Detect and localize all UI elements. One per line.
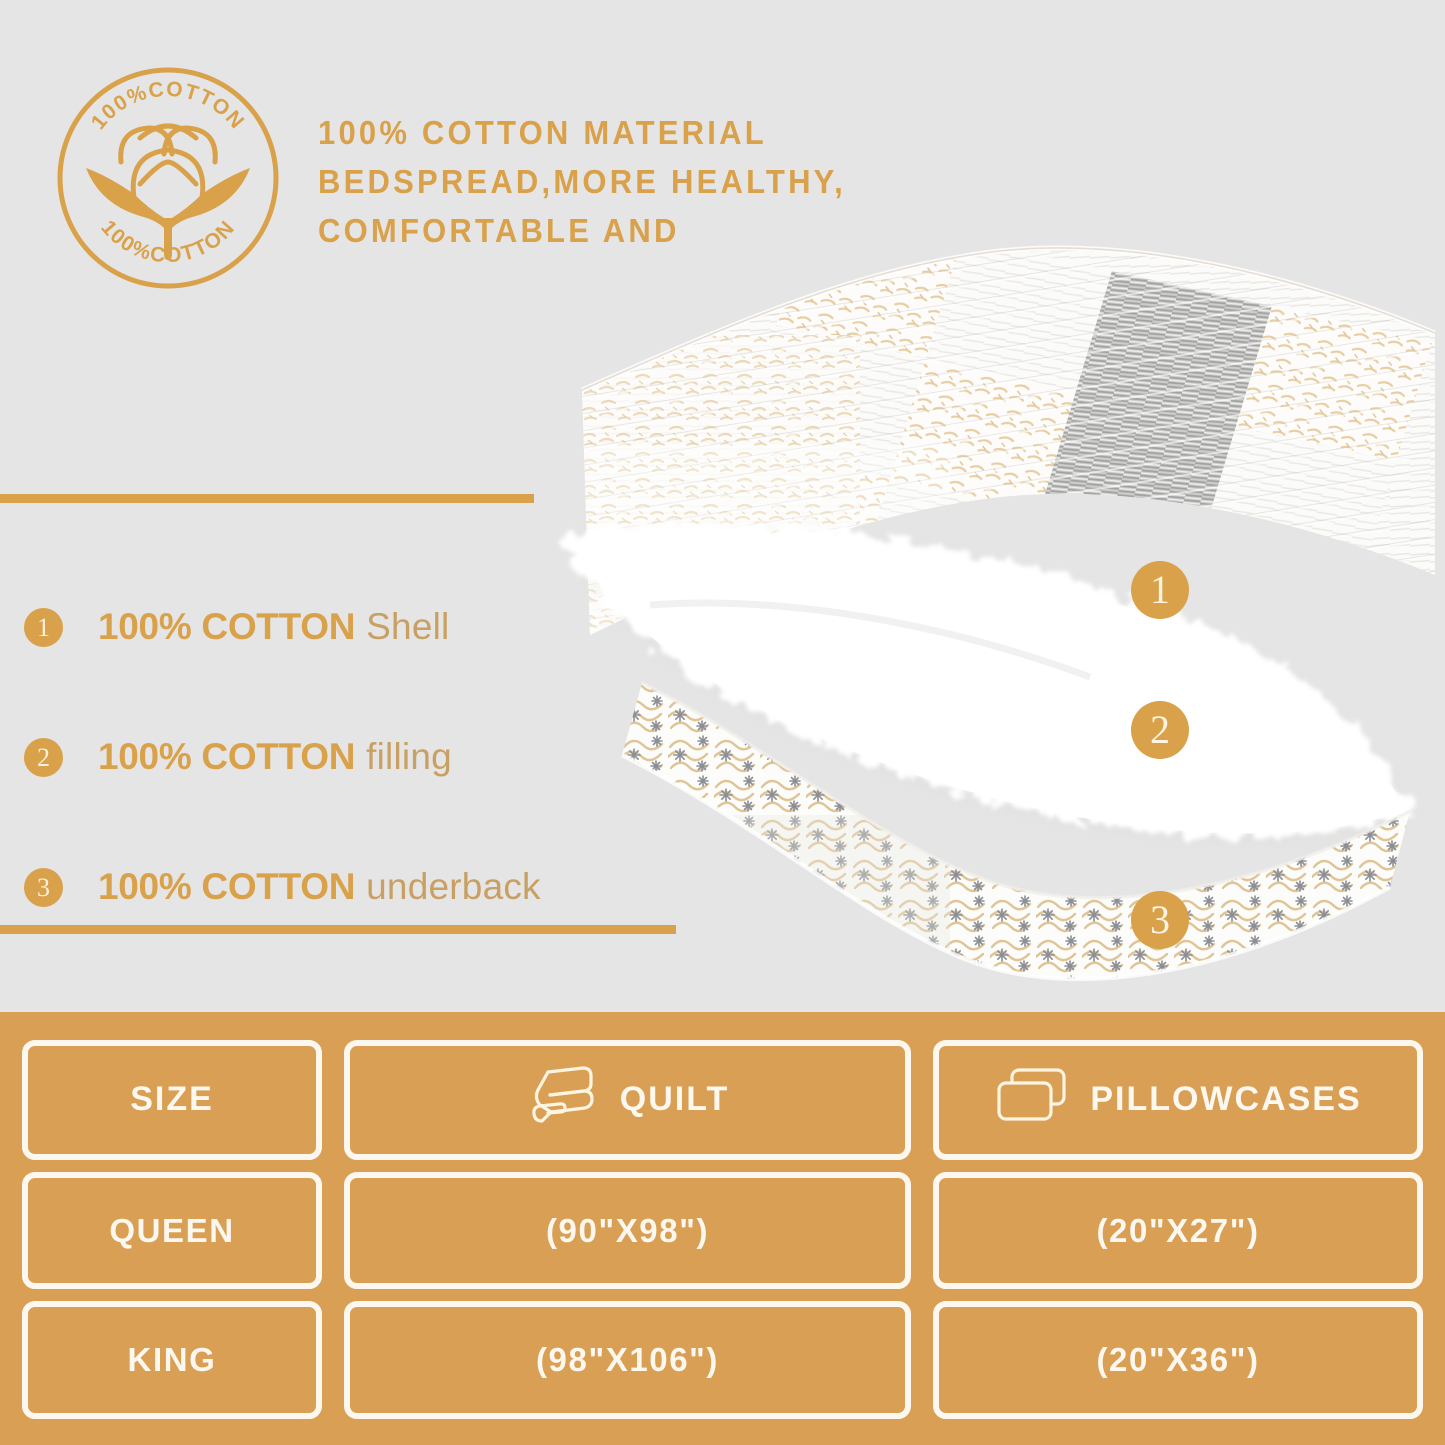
feature-strong-1: 100% COTTON bbox=[98, 606, 355, 648]
photo-marker-1: 1 bbox=[1131, 561, 1189, 619]
upper-section: 100%COTTON 100%COTTON 100% COTTON MATERI… bbox=[0, 0, 1445, 1012]
pillowcases-icon bbox=[994, 1065, 1070, 1134]
cell-quilt-king: (98"X106") bbox=[344, 1301, 911, 1419]
table-header-size: SIZE bbox=[22, 1040, 322, 1160]
divider-rule-top bbox=[0, 494, 534, 503]
cell-pillowcases-king: (20"X36") bbox=[933, 1301, 1423, 1419]
feature-strong-3: 100% COTTON bbox=[98, 866, 355, 908]
size-table: SIZE QUILT bbox=[0, 1012, 1445, 1445]
table-header-quilt-label: QUILT bbox=[620, 1080, 729, 1119]
cell-pillowcases-queen: (20"X27") bbox=[933, 1172, 1423, 1290]
table-row: QUEEN (90"X98") (20"X27") bbox=[22, 1172, 1423, 1290]
cell-pillowcases-queen-label: (20"X27") bbox=[1096, 1212, 1259, 1250]
cell-size-king-label: KING bbox=[128, 1341, 217, 1379]
photo-marker-3: 3 bbox=[1131, 891, 1189, 949]
cell-pillowcases-king-label: (20"X36") bbox=[1096, 1341, 1259, 1379]
feature-light-1: Shell bbox=[366, 606, 449, 648]
feature-number-badge-3: 3 bbox=[24, 868, 63, 907]
table-row: KING (98"X106") (20"X36") bbox=[22, 1301, 1423, 1419]
headline-line-1: 100% COTTON MATERIAL bbox=[318, 108, 1070, 157]
table-header-row: SIZE QUILT bbox=[22, 1040, 1423, 1160]
cell-size-king: KING bbox=[22, 1301, 322, 1419]
table-header-size-label: SIZE bbox=[130, 1080, 214, 1119]
cell-size-queen: QUEEN bbox=[22, 1172, 322, 1290]
folded-quilt-icon bbox=[526, 1063, 600, 1136]
feature-light-3: underback bbox=[366, 866, 541, 908]
feature-number-badge-2: 2 bbox=[24, 738, 63, 777]
quilt-layers-photo bbox=[530, 215, 1445, 1012]
table-header-quilt: QUILT bbox=[344, 1040, 911, 1160]
table-header-pillowcases-label: PILLOWCASES bbox=[1090, 1080, 1361, 1119]
cell-quilt-queen-label: (90"X98") bbox=[546, 1212, 709, 1250]
headline-line-2: BEDSPREAD,MORE HEALTHY, bbox=[318, 157, 1070, 206]
feature-number-badge-1: 1 bbox=[24, 608, 63, 647]
cell-size-queen-label: QUEEN bbox=[109, 1212, 234, 1250]
feature-strong-2: 100% COTTON bbox=[98, 736, 355, 778]
infographic-page: 100%COTTON 100%COTTON 100% COTTON MATERI… bbox=[0, 0, 1445, 1445]
feature-light-2: filling bbox=[366, 736, 452, 778]
table-header-pillowcases: PILLOWCASES bbox=[933, 1040, 1423, 1160]
cotton-badge: 100%COTTON 100%COTTON bbox=[48, 58, 288, 298]
photo-marker-2: 2 bbox=[1131, 701, 1189, 759]
cell-quilt-queen: (90"X98") bbox=[344, 1172, 911, 1290]
cell-quilt-king-label: (98"X106") bbox=[536, 1341, 719, 1379]
